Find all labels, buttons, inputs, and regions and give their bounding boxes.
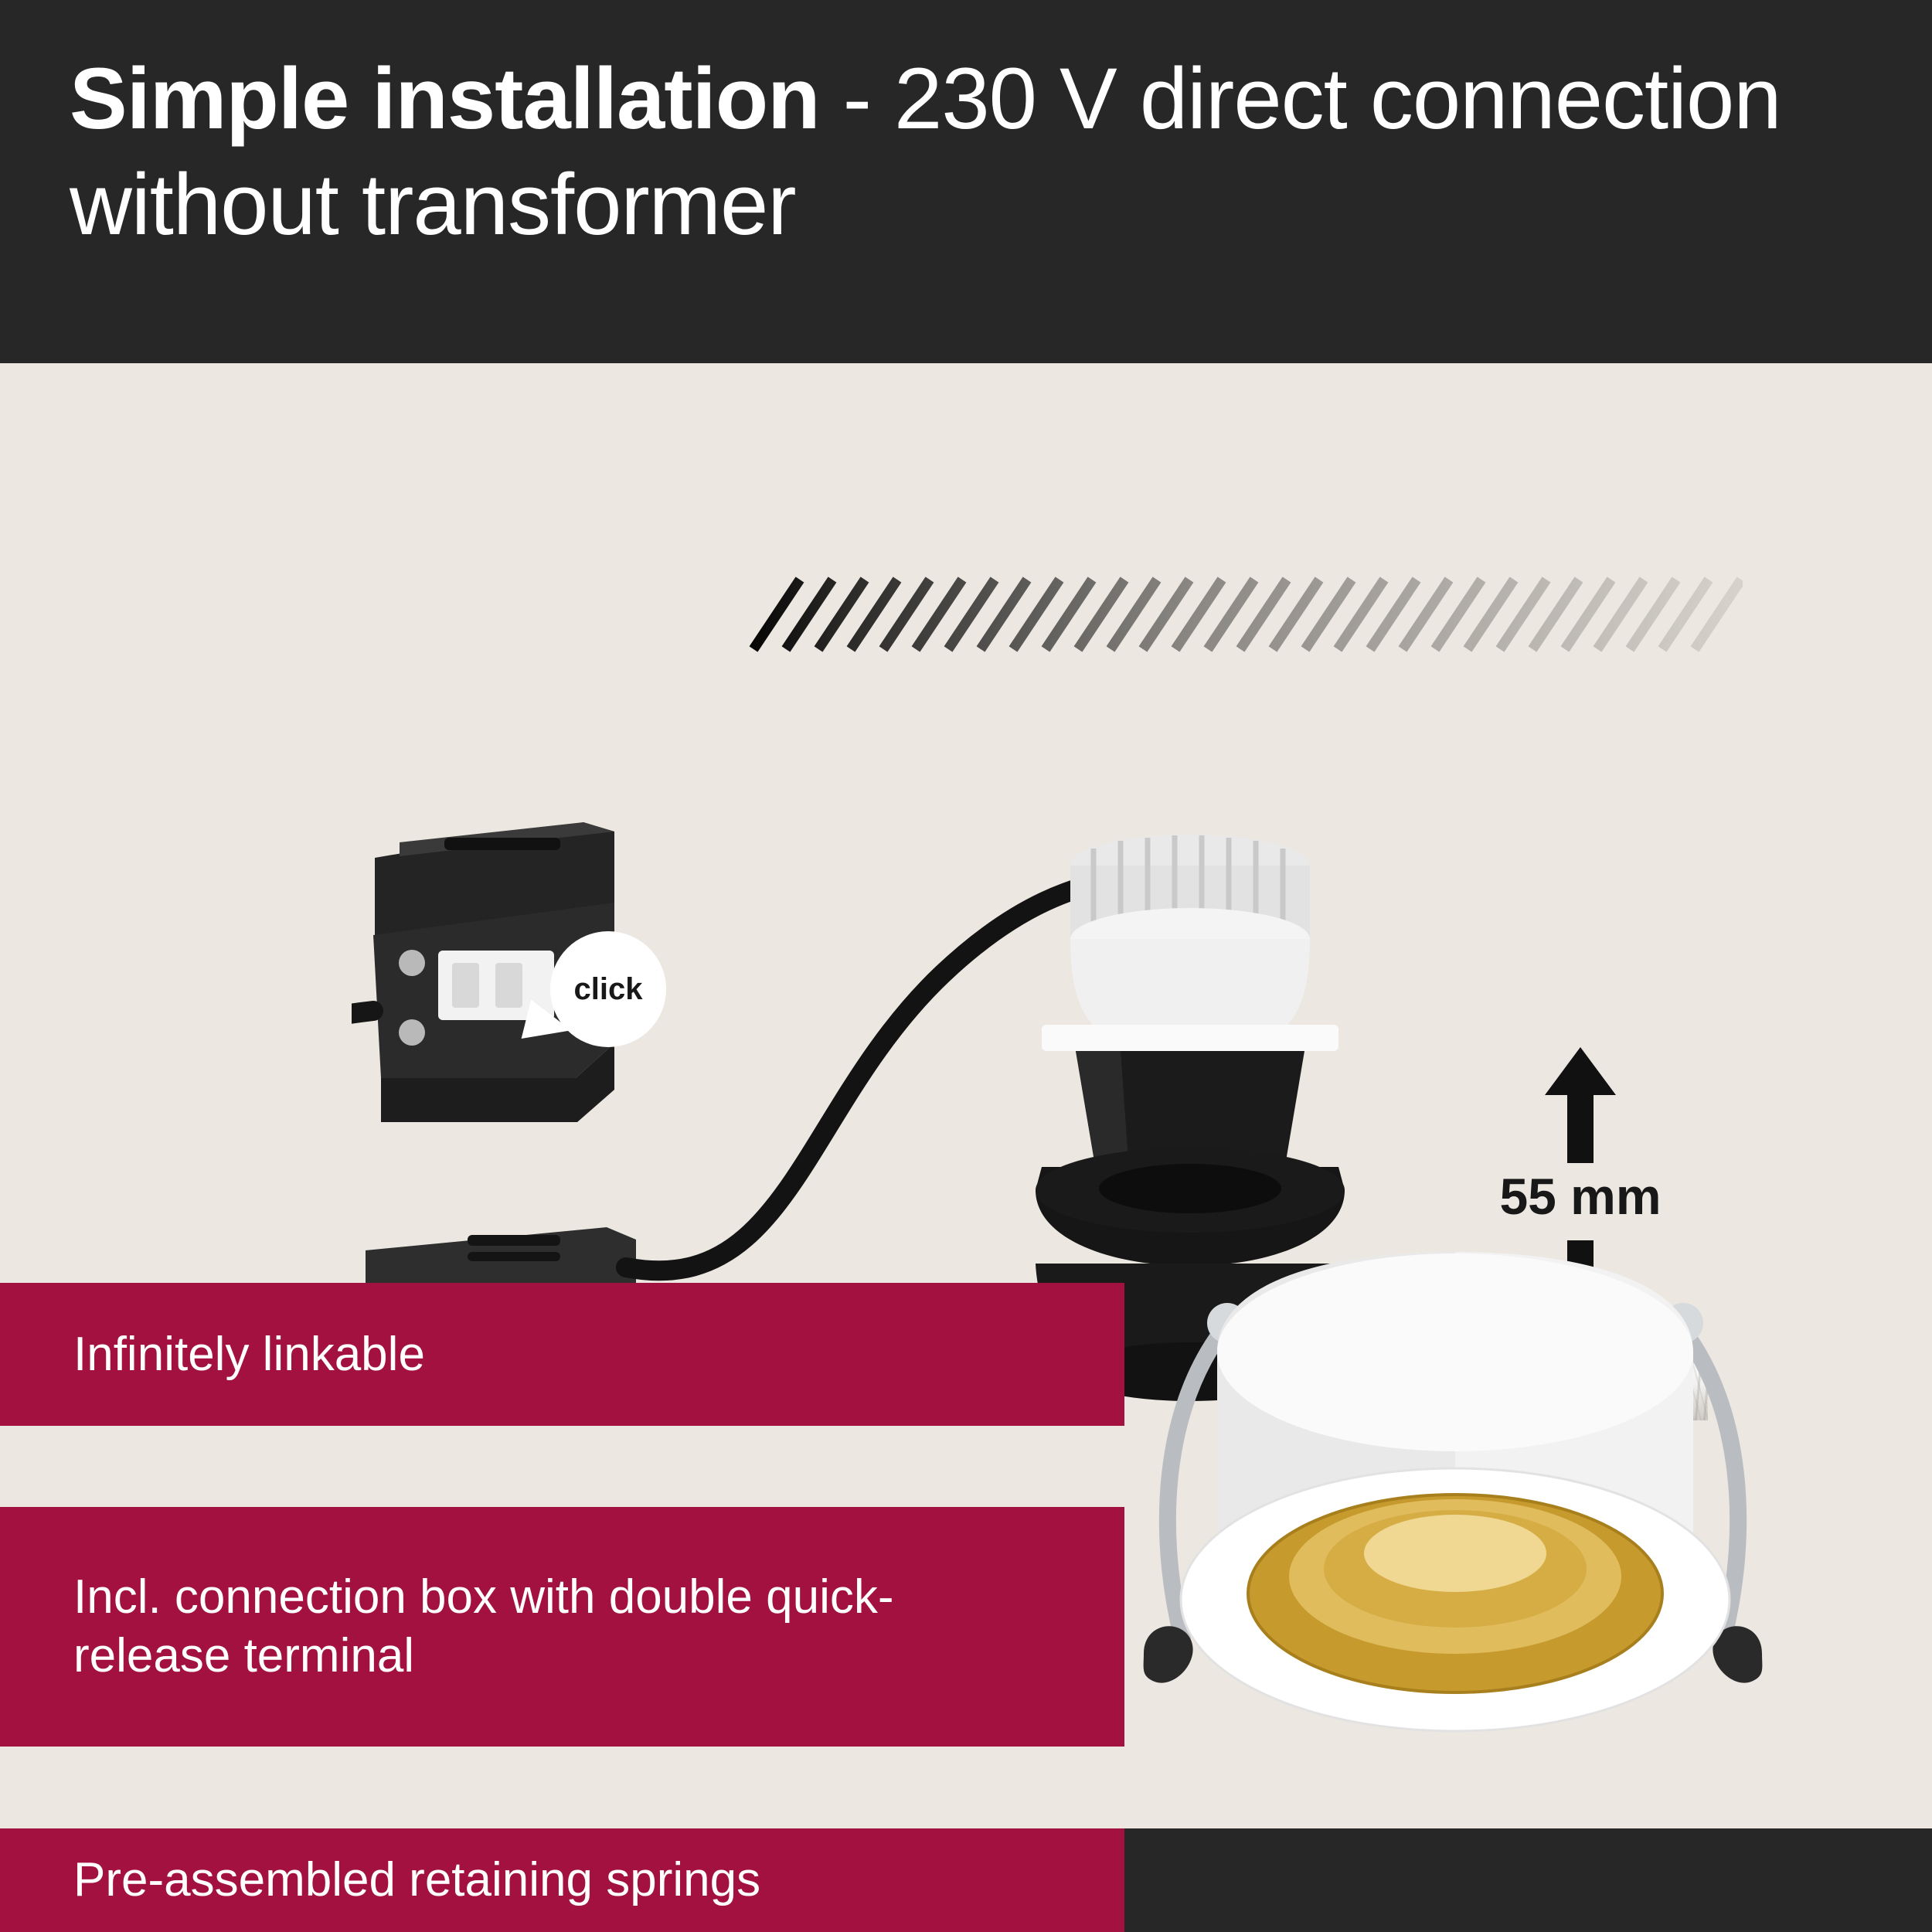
feature-label-1: Infinitely linkable	[73, 1325, 425, 1384]
page-title-bold: Simple installation	[70, 50, 820, 147]
feature-bar-1: Infinitely linkable	[0, 1283, 1124, 1426]
header-banner: Simple installation - 230 V direct conne…	[0, 0, 1932, 363]
feature-label-3: Pre-assembled retaining springs	[73, 1851, 760, 1910]
feature-bar-3: Pre-assembled retaining springs	[0, 1828, 1124, 1932]
footer-dark-block	[1124, 1828, 1932, 1932]
feature-bar-2: Incl. connection box with double quick-r…	[0, 1507, 1124, 1747]
dimension-label: 55 mm	[1472, 1167, 1689, 1226]
feature-label-2: Incl. connection box with double quick-r…	[73, 1568, 1032, 1685]
hatched-ceiling-icon	[738, 572, 1743, 657]
installation-diagram: click	[0, 363, 1932, 1291]
arrow-up-icon	[1545, 1047, 1616, 1095]
product-image	[1028, 1236, 1886, 1824]
page-title: Simple installation - 230 V direct conne…	[70, 46, 1862, 257]
